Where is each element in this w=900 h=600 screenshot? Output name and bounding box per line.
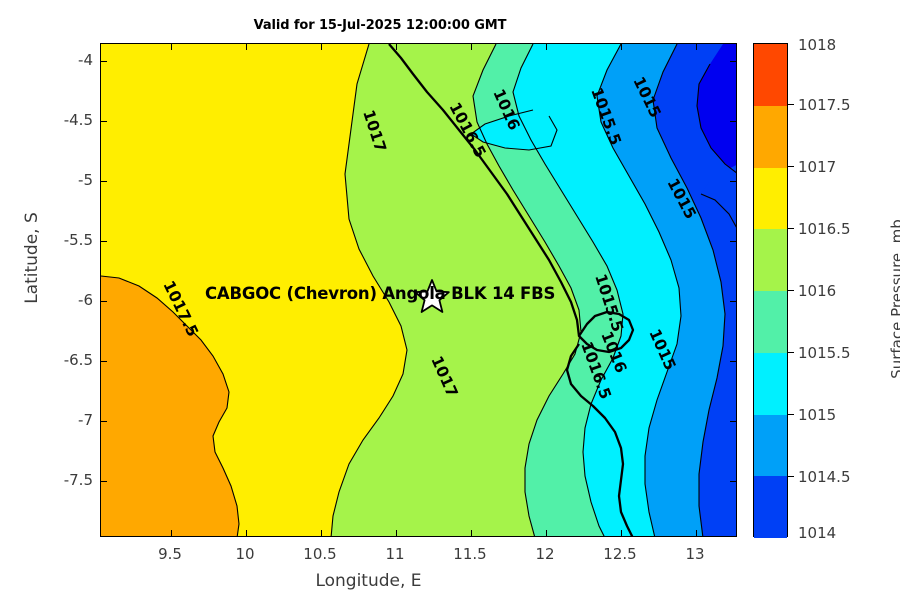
colorbar-tick — [788, 352, 794, 353]
contour-plot-area: 1017 1016.5 1016 1015.5 1015 1015 1017.5… — [100, 43, 737, 537]
colorbar-band-1014p5-1015 — [754, 415, 787, 477]
tick-top — [246, 44, 247, 50]
tick-right — [730, 301, 736, 302]
ytick-label: -4.5 — [64, 111, 93, 129]
colorbar-label: 1016 — [798, 282, 836, 300]
tick-left — [101, 481, 107, 482]
tick-left — [101, 301, 107, 302]
tick-bottom — [471, 530, 472, 536]
xtick-label: 10.5 — [303, 545, 336, 563]
colorbar[interactable] — [753, 43, 788, 537]
xtick-label: 9.5 — [158, 545, 182, 563]
ytick-label: -6 — [78, 291, 93, 309]
colorbar-label: 1015.5 — [798, 344, 851, 362]
tick-bottom — [396, 530, 397, 536]
xtick-label: 12.5 — [603, 545, 636, 563]
colorbar-label: 1017 — [798, 158, 836, 176]
ytick-label: -7.5 — [64, 471, 93, 489]
colorbar-label: 1016.5 — [798, 220, 851, 238]
tick-top — [546, 44, 547, 50]
xtick-label: 11.5 — [453, 545, 486, 563]
tick-left — [101, 181, 107, 182]
tick-bottom — [321, 530, 322, 536]
tick-right — [730, 121, 736, 122]
colorbar-label: 1015 — [798, 406, 836, 424]
xtick-label: 10 — [235, 545, 254, 563]
colorbar-label: 1014 — [798, 524, 836, 542]
xtick-label: 11 — [385, 545, 404, 563]
tick-left — [101, 421, 107, 422]
colorbar-band-1015p5-1016 — [754, 291, 787, 353]
tick-bottom — [246, 530, 247, 536]
tick-right — [730, 181, 736, 182]
colorbar-tick — [788, 228, 794, 229]
colorbar-band-1014-1014p5 — [754, 476, 787, 538]
colorbar-band-1016-1016p5 — [754, 229, 787, 291]
colorbar-tick — [788, 414, 794, 415]
ytick-label: -6.5 — [64, 351, 93, 369]
ytick-label: -4 — [78, 51, 93, 69]
y-axis-label: Latitude, S — [22, 138, 42, 378]
tick-top — [321, 44, 322, 50]
tick-bottom — [696, 530, 697, 536]
tick-right — [730, 481, 736, 482]
colorbar-tick — [788, 476, 794, 477]
colorbar-band-1017p5-1018 — [754, 44, 787, 106]
tick-right — [730, 61, 736, 62]
ytick-label: -5 — [78, 171, 93, 189]
tick-bottom — [171, 530, 172, 536]
colorbar-band-1015-1015p5 — [754, 353, 787, 415]
xtick-label: 12 — [535, 545, 554, 563]
tick-top — [171, 44, 172, 50]
tick-left — [101, 61, 107, 62]
tick-right — [730, 421, 736, 422]
colorbar-title: Surface Pressure, mb — [888, 149, 900, 449]
pressure-map-figure: Valid for 15-Jul-2025 12:00:00 GMT — [0, 0, 900, 600]
colorbar-band-1016p5-1017 — [754, 168, 787, 230]
tick-left — [101, 241, 107, 242]
ytick-label: -5.5 — [64, 231, 93, 249]
tick-bottom — [546, 530, 547, 536]
tick-top — [696, 44, 697, 50]
station-name-label: CABGOC (Chevron) Angola BLK 14 FBS — [205, 284, 555, 303]
tick-top — [621, 44, 622, 50]
colorbar-tick — [788, 290, 794, 291]
colorbar-label: 1018 — [798, 36, 836, 54]
tick-left — [101, 121, 107, 122]
tick-bottom — [621, 530, 622, 536]
colorbar-label: 1017.5 — [798, 96, 851, 114]
tick-left — [101, 361, 107, 362]
xtick-label: 13 — [685, 545, 704, 563]
colorbar-band-1017-1017p5 — [754, 106, 787, 168]
tick-right — [730, 361, 736, 362]
ytick-label: -7 — [78, 411, 93, 429]
tick-right — [730, 241, 736, 242]
tick-top — [471, 44, 472, 50]
x-axis-label: Longitude, E — [0, 571, 737, 591]
colorbar-label: 1014.5 — [798, 468, 851, 486]
figure-title: Valid for 15-Jul-2025 12:00:00 GMT — [0, 18, 760, 33]
colorbar-tick — [788, 166, 794, 167]
colorbar-tick — [788, 104, 794, 105]
tick-top — [396, 44, 397, 50]
